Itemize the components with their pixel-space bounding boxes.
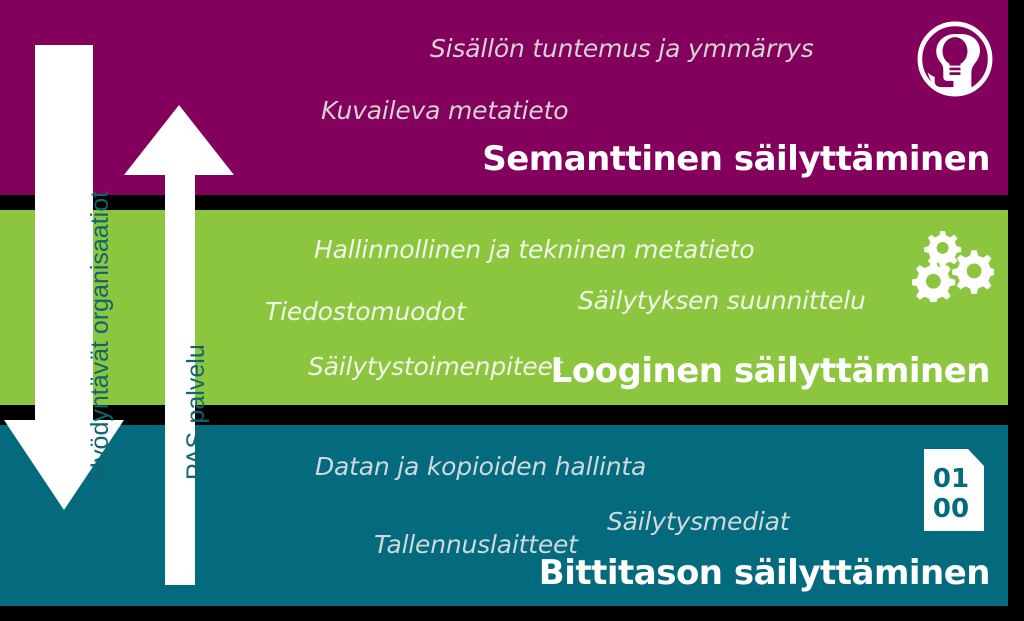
- arrow-label-hyodyntavat-organisaatiot: Hyödyntävät organisaatiot: [86, 191, 115, 480]
- head-lightbulb-icon: [916, 20, 994, 98]
- layer-title-bit: Bittitason säilyttäminen: [539, 553, 990, 593]
- keyword-semantic-0: Sisällön tuntemus ja ymmärrys: [430, 34, 814, 63]
- arrow-up-icon: [124, 100, 236, 585]
- diagram-canvas: Sisällön tuntemus ja ymmärrys Kuvaileva …: [0, 0, 1024, 621]
- layer-title-logical: Looginen säilyttäminen: [551, 351, 990, 391]
- keyword-bit-1: Säilytysmediat: [607, 507, 789, 536]
- keyword-bit-0: Datan ja kopioiden hallinta: [315, 452, 646, 481]
- keyword-logical-3: Säilytystoimenpiteet: [308, 352, 562, 381]
- keyword-logical-1: Tiedostomuodot: [265, 297, 466, 326]
- keyword-semantic-1: Kuvaileva metatieto: [321, 96, 568, 125]
- arrow-label-pas-palvelu: PAS-palvelu: [182, 344, 211, 480]
- binary-icon-line2: 00: [933, 494, 969, 524]
- layer-title-semantic: Semanttinen säilyttäminen: [482, 139, 990, 179]
- keyword-logical-0: Hallinnollinen ja tekninen metatieto: [314, 235, 754, 264]
- binary-card-icon: 01 00: [918, 449, 990, 531]
- keyword-logical-2: Säilytyksen suunnittelu: [578, 286, 866, 315]
- gears-icon: [912, 228, 994, 302]
- binary-icon-line1: 01: [933, 464, 969, 494]
